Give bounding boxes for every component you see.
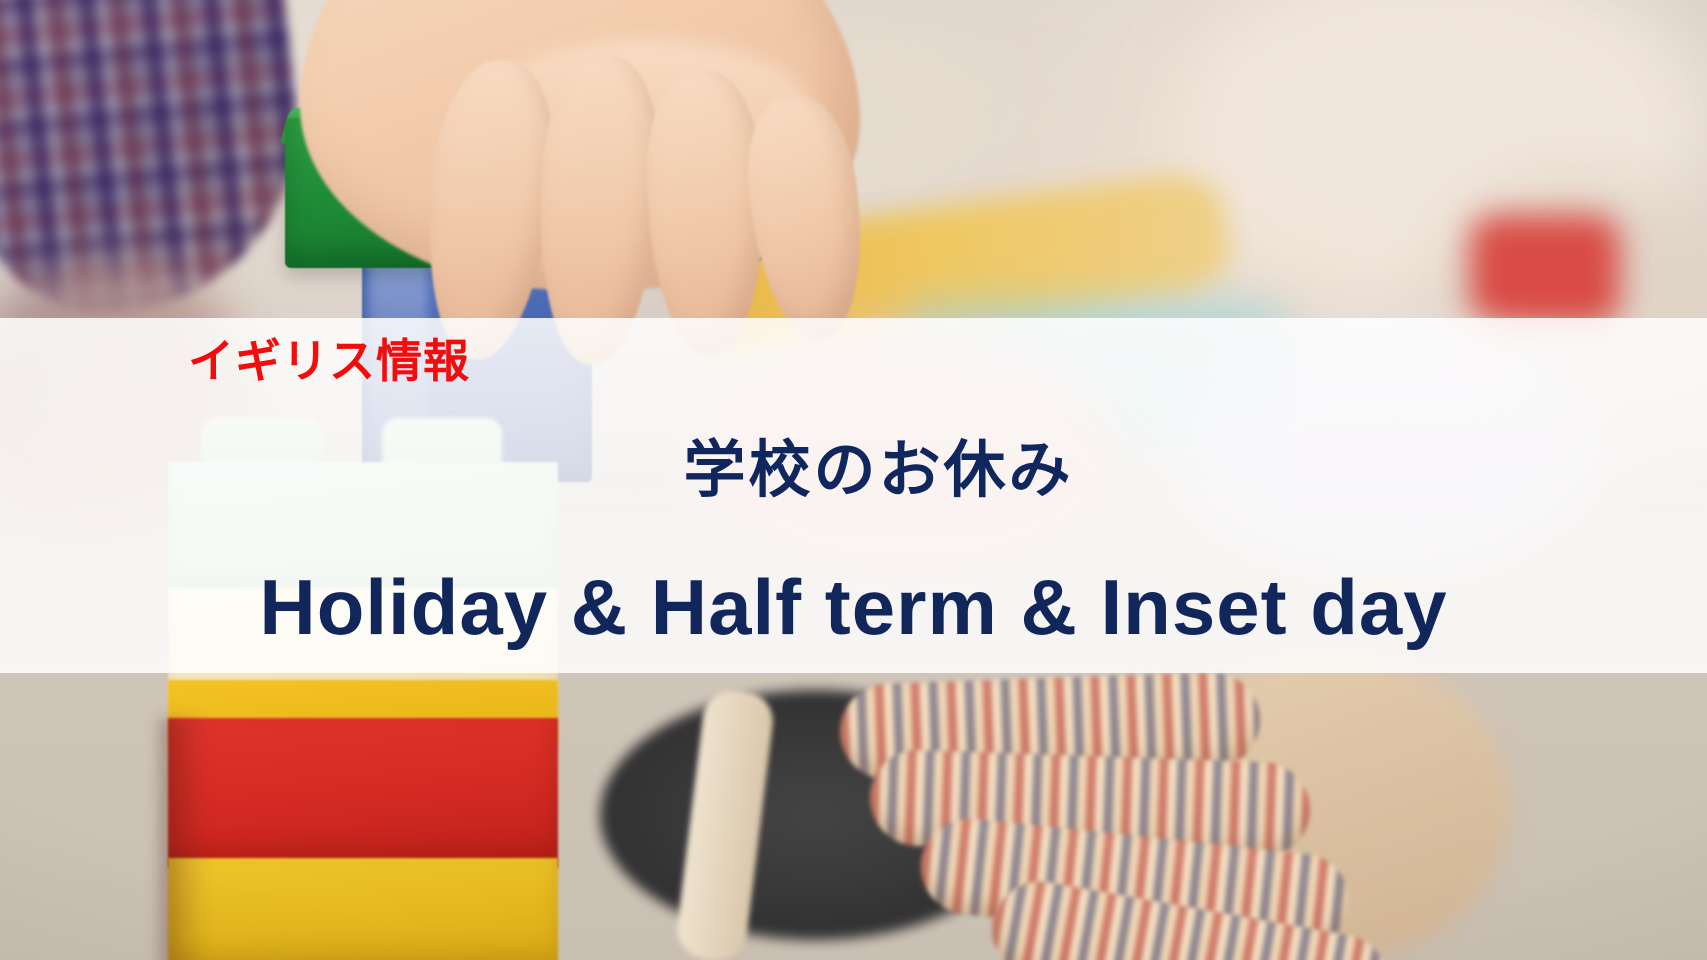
title-english: Holiday & Half term & Inset day <box>0 568 1707 646</box>
text-overlay-panel: イギリス情報 学校のお休み Holiday & Half term & Inse… <box>0 318 1707 673</box>
category-kicker: イギリス情報 <box>188 338 470 384</box>
title-japanese: 学校のお休み <box>0 440 1707 502</box>
banner: イギリス情報 学校のお休み Holiday & Half term & Inse… <box>0 0 1707 960</box>
